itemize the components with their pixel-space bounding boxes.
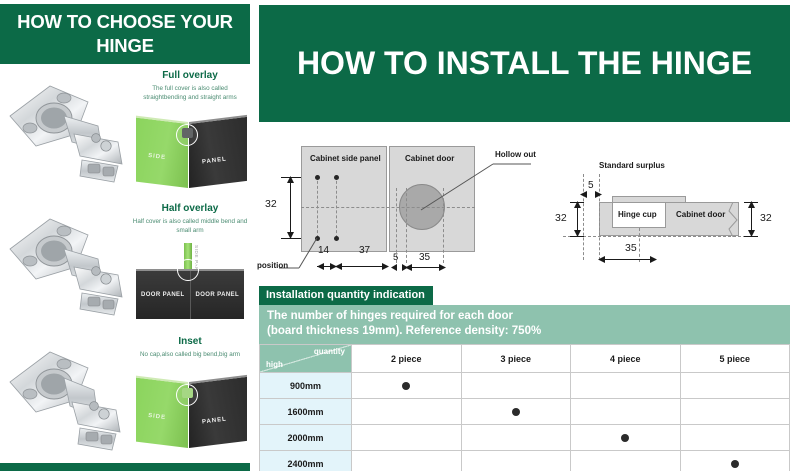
table-row: 2000mm (260, 425, 790, 451)
break-line-icon (725, 202, 741, 237)
hole-axis-1-dashed (317, 176, 318, 238)
right-panel-title: HOW TO INSTALL THE HINGE (297, 44, 752, 83)
cell-empty (680, 373, 790, 399)
installation-tag-label: Installation quantity indication (259, 286, 433, 305)
dim-5-value: 5 (393, 252, 398, 263)
diagrams-area: Cabinet side panel Cabinet door (259, 128, 790, 278)
position-label: position (257, 261, 288, 270)
hinge-cup-label: Hinge cup (618, 210, 657, 219)
hole-axis-2-dashed (336, 176, 337, 238)
screw-hole-dot (315, 175, 320, 180)
quantity-table: quantity high 2 piece 3 piece 4 piece 5 … (259, 344, 790, 471)
hinge-title: Full overlay (130, 70, 250, 81)
cell-marked (461, 399, 571, 425)
dim-32-left-value: 32 (555, 212, 567, 224)
overlay-illustration-inset: SIDE PANEL (132, 374, 250, 452)
cell-marked (571, 425, 681, 451)
recommendation-dot-icon (621, 434, 629, 442)
dim-35-value: 35 (419, 252, 430, 263)
cell-empty (352, 425, 462, 451)
table-corner-header: quantity high (260, 345, 352, 373)
column-header-2-piece: 2 piece (352, 345, 462, 373)
left-panel-title: HOW TO CHOOSE YOUR HINGE (0, 10, 250, 57)
table-row: 900mm (260, 373, 790, 399)
cabinet-panel-shape (189, 375, 247, 448)
left-panel-header: HOW TO CHOOSE YOUR HINGE (0, 4, 250, 64)
cell-empty (571, 399, 681, 425)
installation-subtitle-line2: (board thickness 19mm). Reference densit… (267, 324, 782, 339)
table-header-row: quantity high 2 piece 3 piece 4 piece 5 … (260, 345, 790, 373)
hinge-description: No cap,also called big bend,big arm (130, 350, 250, 359)
row-header-height: 2000mm (260, 425, 352, 451)
hinge-description: The full cover is also called straightbe… (130, 84, 250, 102)
hinge-option-inset: Inset No cap,also called big bend,big ar… (0, 332, 250, 462)
cell-empty (571, 373, 681, 399)
dim32R-arrows (747, 201, 756, 238)
hinge-text-inset: Inset No cap,also called big bend,big ar… (130, 336, 250, 359)
dim37-arrows (334, 262, 390, 271)
dim-37-value: 37 (359, 245, 370, 256)
cell-empty (461, 373, 571, 399)
drilling-layout-diagram: Cabinet side panel Cabinet door (259, 128, 554, 278)
dim35-arrows (597, 255, 659, 264)
hinge-title: Inset (130, 336, 250, 347)
hinge-photo-full-overlay (2, 72, 130, 194)
dim-32-value: 32 (265, 198, 277, 210)
hollow-out-leader (419, 158, 539, 213)
surplus-ref-dashed-left (583, 174, 584, 260)
cell-empty (680, 425, 790, 451)
right-panel-header: HOW TO INSTALL THE HINGE (259, 5, 790, 122)
column-header-5-piece: 5 piece (680, 345, 790, 373)
hinge-text-half-overlay: Half overlay Half cover is also called m… (130, 203, 250, 235)
installation-subtitle-line1: The number of hinges required for each d… (267, 309, 782, 324)
hinge-option-full-overlay: Full overlay The full cover is also call… (0, 66, 250, 196)
standard-surplus-label: Standard surplus (599, 161, 665, 170)
hollow-out-label: Hollow out (495, 150, 536, 159)
left-panel: HOW TO CHOOSE YOUR HINGE (0, 4, 250, 471)
cabinet-door-profile-label: Cabinet door (676, 210, 725, 219)
right-panel: HOW TO INSTALL THE HINGE Cabinet side pa… (259, 0, 790, 471)
baseline-dashed (563, 236, 751, 237)
recommendation-dot-icon (512, 408, 520, 416)
infographic-root: HOW TO CHOOSE YOUR HINGE (0, 0, 790, 471)
dim32-arrows (286, 176, 295, 240)
standard-surplus-diagram: Standard surplus Hinge cup Cabinet door … (555, 128, 790, 278)
left-panel-footer-bar (0, 463, 250, 471)
highlight-circle-icon (177, 259, 199, 281)
cell-empty (352, 451, 462, 471)
row-header-height: 1600mm (260, 399, 352, 425)
cell-marked (680, 451, 790, 471)
installation-subtitle: The number of hinges required for each d… (259, 305, 790, 344)
cell-empty (461, 451, 571, 471)
column-header-4-piece: 4 piece (571, 345, 681, 373)
surplus-ref-dashed-mid (599, 174, 600, 260)
recommendation-dot-icon (402, 382, 410, 390)
hinge-description: Half cover is also called middle bend an… (130, 217, 250, 235)
corner-high-label: high (266, 360, 283, 369)
cell-empty (461, 425, 571, 451)
hinge-photo-inset (2, 338, 130, 460)
door-panel-right-label: DOOR PANEL (191, 271, 245, 319)
dim-35-value: 35 (625, 242, 637, 254)
corner-quantity-label: quantity (314, 347, 345, 356)
recommendation-dot-icon (731, 460, 739, 468)
column-header-3-piece: 3 piece (461, 345, 571, 373)
hinge-photo-half-overlay (2, 205, 130, 327)
hinge-title: Half overlay (130, 203, 250, 214)
installation-quantity-section: Installation quantity indication The num… (259, 285, 790, 471)
installation-tag-wrap: Installation quantity indication (259, 285, 790, 305)
dim32L-arrows (573, 201, 582, 238)
highlight-circle-icon (176, 384, 198, 406)
dim5-arrows (579, 190, 603, 199)
table-row: 1600mm (260, 399, 790, 425)
cell-empty (571, 451, 681, 471)
table-row: 2400mm (260, 451, 790, 471)
row-header-height: 900mm (260, 373, 352, 399)
cabinet-panel-shape (189, 115, 247, 188)
cup-edge-dashed (406, 188, 407, 263)
cell-marked (352, 373, 462, 399)
row-header-height: 2400mm (260, 451, 352, 471)
cell-empty (680, 399, 790, 425)
screw-hole-dot (334, 236, 339, 241)
dim-32-right-value: 32 (760, 212, 772, 224)
cabinet-side-panel-label: Cabinet side panel (310, 154, 381, 163)
screw-hole-dot (334, 175, 339, 180)
overlay-illustration-half: SIDE PANEL DOOR PANEL DOOR PANEL (132, 243, 250, 323)
quantity-table-body: 900mm1600mm2000mm2400mm (260, 373, 790, 471)
hinge-text-full-overlay: Full overlay The full cover is also call… (130, 70, 250, 102)
highlight-circle-icon (176, 124, 198, 146)
overlay-illustration-full: SIDE PANEL (132, 114, 250, 192)
cell-empty (352, 399, 462, 425)
dim35-arrows (404, 263, 448, 272)
hinge-option-half-overlay: Half overlay Half cover is also called m… (0, 199, 250, 329)
